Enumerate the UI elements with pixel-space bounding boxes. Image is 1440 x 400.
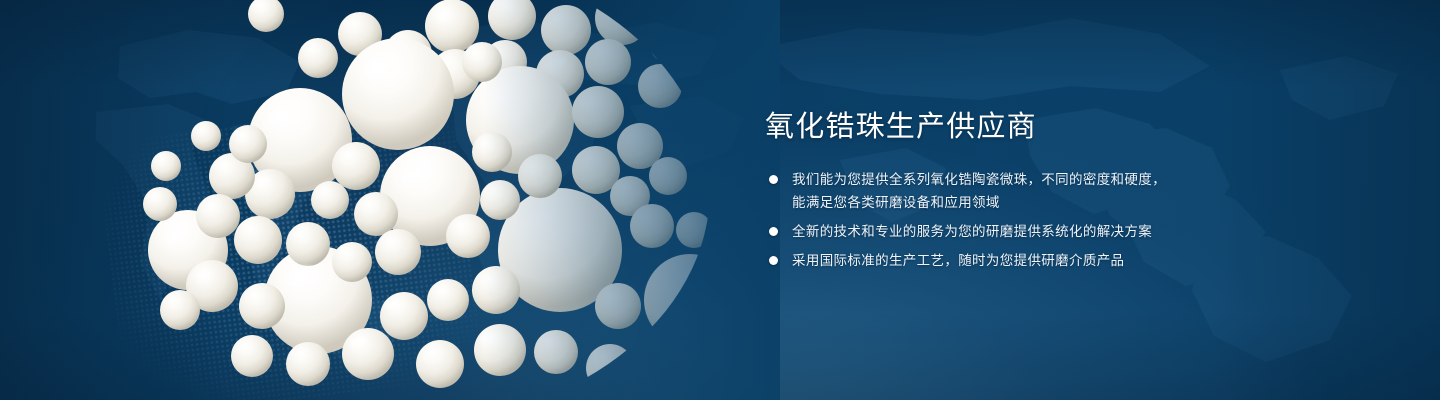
list-item-text: 全新的技术和专业的服务为您的研磨提供系统化的解决方案 — [792, 220, 1232, 243]
hero-banner: 氧化锆珠生产供应商 我们能为您提供全系列氧化锆陶瓷微珠，不同的密度和硬度， 能满… — [0, 0, 1440, 400]
list-item-text: 我们能为您提供全系列氧化锆陶瓷微珠，不同的密度和硬度， — [792, 168, 1232, 191]
list-item: 我们能为您提供全系列氧化锆陶瓷微珠，不同的密度和硬度， 能满足您各类研磨设备和应… — [762, 168, 1232, 214]
bullet-dot-icon — [769, 175, 778, 184]
list-item-text: 采用国际标准的生产工艺，随时为您提供研磨介质产品 — [792, 249, 1232, 272]
bullet-dot-icon — [769, 256, 778, 265]
list-item: 采用国际标准的生产工艺，随时为您提供研磨介质产品 — [762, 249, 1232, 272]
feature-list: 我们能为您提供全系列氧化锆陶瓷微珠，不同的密度和硬度， 能满足您各类研磨设备和应… — [762, 168, 1232, 278]
list-item: 全新的技术和专业的服务为您的研磨提供系统化的解决方案 — [762, 220, 1232, 243]
banner-copy: 氧化锆珠生产供应商 我们能为您提供全系列氧化锆陶瓷微珠，不同的密度和硬度， 能满… — [762, 0, 1322, 400]
page-title: 氧化锆珠生产供应商 — [765, 107, 1037, 147]
bullet-dot-icon — [769, 227, 778, 236]
list-item-text: 能满足您各类研磨设备和应用领域 — [792, 191, 1232, 214]
